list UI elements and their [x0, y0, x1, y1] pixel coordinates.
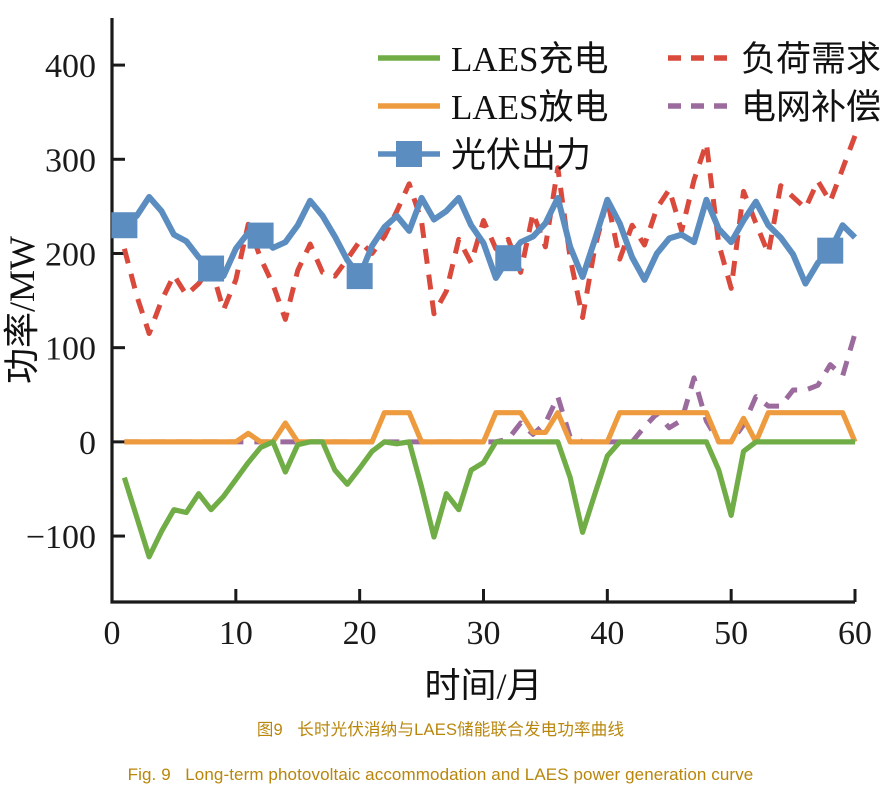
x-tick-label: 50: [714, 615, 748, 652]
x-tick-label: 10: [219, 615, 253, 652]
legend-item-laes_discharge: LAES放电: [378, 88, 609, 127]
y-tick-label: 300: [45, 142, 96, 179]
legend-item-load_demand: 负荷需求: [668, 40, 881, 79]
x-tick-label: 30: [467, 615, 501, 652]
x-tick-label: 20: [343, 615, 377, 652]
legend-label-grid_compensation: 电网补偿: [741, 88, 881, 127]
pv-output-markers: [111, 212, 843, 289]
figure-container: −10001002003004000102030405060时间/月功率/MWL…: [0, 0, 881, 811]
pv-marker-square: [817, 238, 843, 264]
y-axis-title: 功率/MW: [2, 236, 42, 384]
x-tick-label: 60: [838, 615, 872, 652]
legend-label-pv_output: 光伏出力: [451, 136, 591, 175]
legend-label-laes_charge: LAES充电: [451, 40, 609, 79]
series-line-laes_discharge: [124, 413, 855, 442]
pv-marker-square: [248, 223, 274, 249]
power-generation-line-chart: −10001002003004000102030405060时间/月功率/MWL…: [0, 0, 881, 700]
x-tick-label: 0: [104, 615, 121, 652]
x-tick-label: 40: [590, 615, 624, 652]
pv-marker-square: [347, 263, 373, 289]
legend-label-laes_discharge: LAES放电: [451, 88, 609, 127]
pv-marker-square: [111, 212, 137, 238]
x-axis-title: 时间/月: [424, 666, 542, 700]
x-axis-ticks: 0102030405060: [104, 589, 873, 652]
chart-legend: LAES充电LAES放电光伏出力负荷需求电网补偿: [378, 40, 881, 175]
legend-item-grid_compensation: 电网补偿: [668, 88, 881, 127]
legend-label-load_demand: 负荷需求: [741, 40, 881, 79]
legend-item-pv_output: 光伏出力: [378, 136, 591, 175]
y-tick-label: 0: [79, 425, 96, 462]
pv-marker-square: [495, 245, 521, 271]
pv-marker-square: [198, 256, 224, 282]
legend-item-laes_charge: LAES充电: [378, 40, 609, 79]
figure-caption-english: Fig. 9 Long-term photovoltaic accommodat…: [0, 765, 881, 785]
y-tick-label: 400: [45, 48, 96, 85]
series-line-laes_charge: [124, 442, 855, 557]
y-tick-label: −100: [26, 519, 96, 556]
legend-marker-square-pv_output: [396, 141, 422, 167]
y-tick-label: 200: [45, 236, 96, 273]
figure-caption-chinese: 图9 长时光伏消纳与LAES储能联合发电功率曲线: [0, 716, 881, 740]
y-tick-label: 100: [45, 331, 96, 368]
